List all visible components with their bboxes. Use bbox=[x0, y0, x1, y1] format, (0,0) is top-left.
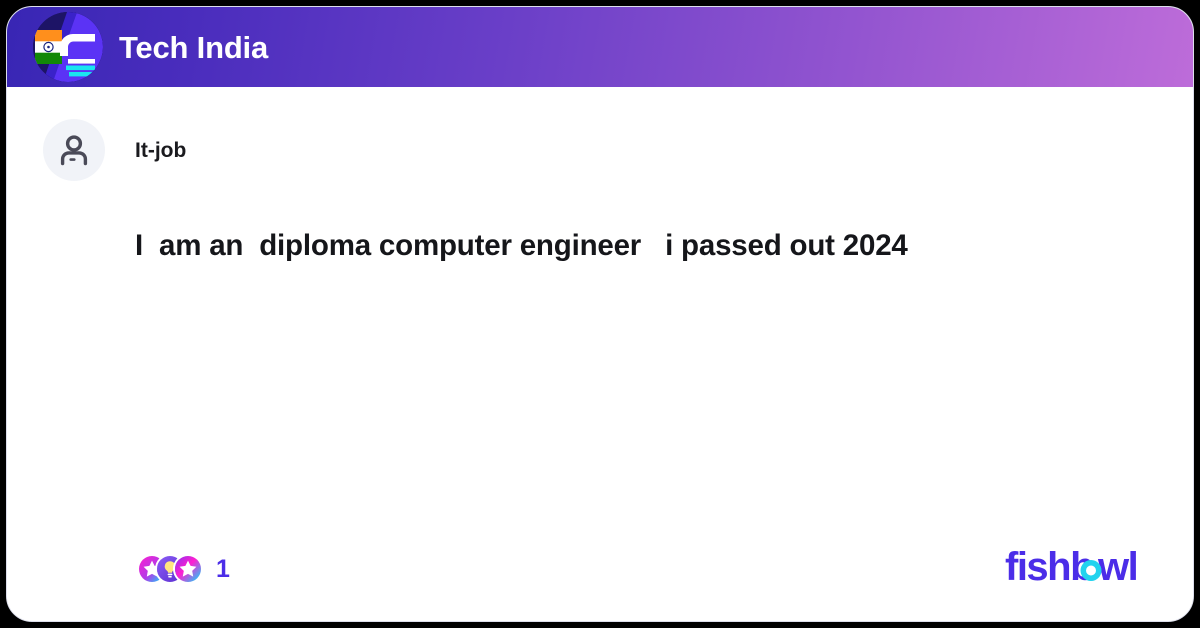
reactions-group[interactable]: 1 bbox=[137, 554, 230, 584]
screenshot-root: Tech India It-job I am an diploma comput… bbox=[0, 0, 1200, 628]
post-card: Tech India It-job I am an diploma comput… bbox=[6, 6, 1194, 622]
bowl-title: Tech India bbox=[119, 32, 268, 63]
reaction-count: 1 bbox=[216, 557, 230, 582]
post-body-text: I am an diploma computer engineer i pass… bbox=[135, 227, 1075, 266]
post-author-name: It-job bbox=[135, 140, 186, 161]
anonymous-person-icon bbox=[43, 119, 105, 181]
post-footer: 1 fishb wl bbox=[7, 545, 1193, 593]
reaction-badge-stack[interactable] bbox=[137, 554, 203, 584]
post-body: It-job I am an diploma computer engineer… bbox=[7, 87, 1193, 621]
post-author-row: It-job bbox=[7, 87, 1193, 181]
star-reaction-icon-2[interactable] bbox=[173, 554, 203, 584]
svg-text:fishb: fishb bbox=[1005, 546, 1093, 589]
tech-india-bowl-logo-icon bbox=[33, 12, 103, 82]
svg-text:wl: wl bbox=[1097, 546, 1137, 589]
bowl-header: Tech India bbox=[7, 7, 1193, 87]
fishbowl-wordmark-logo: fishb wl bbox=[1005, 546, 1153, 592]
